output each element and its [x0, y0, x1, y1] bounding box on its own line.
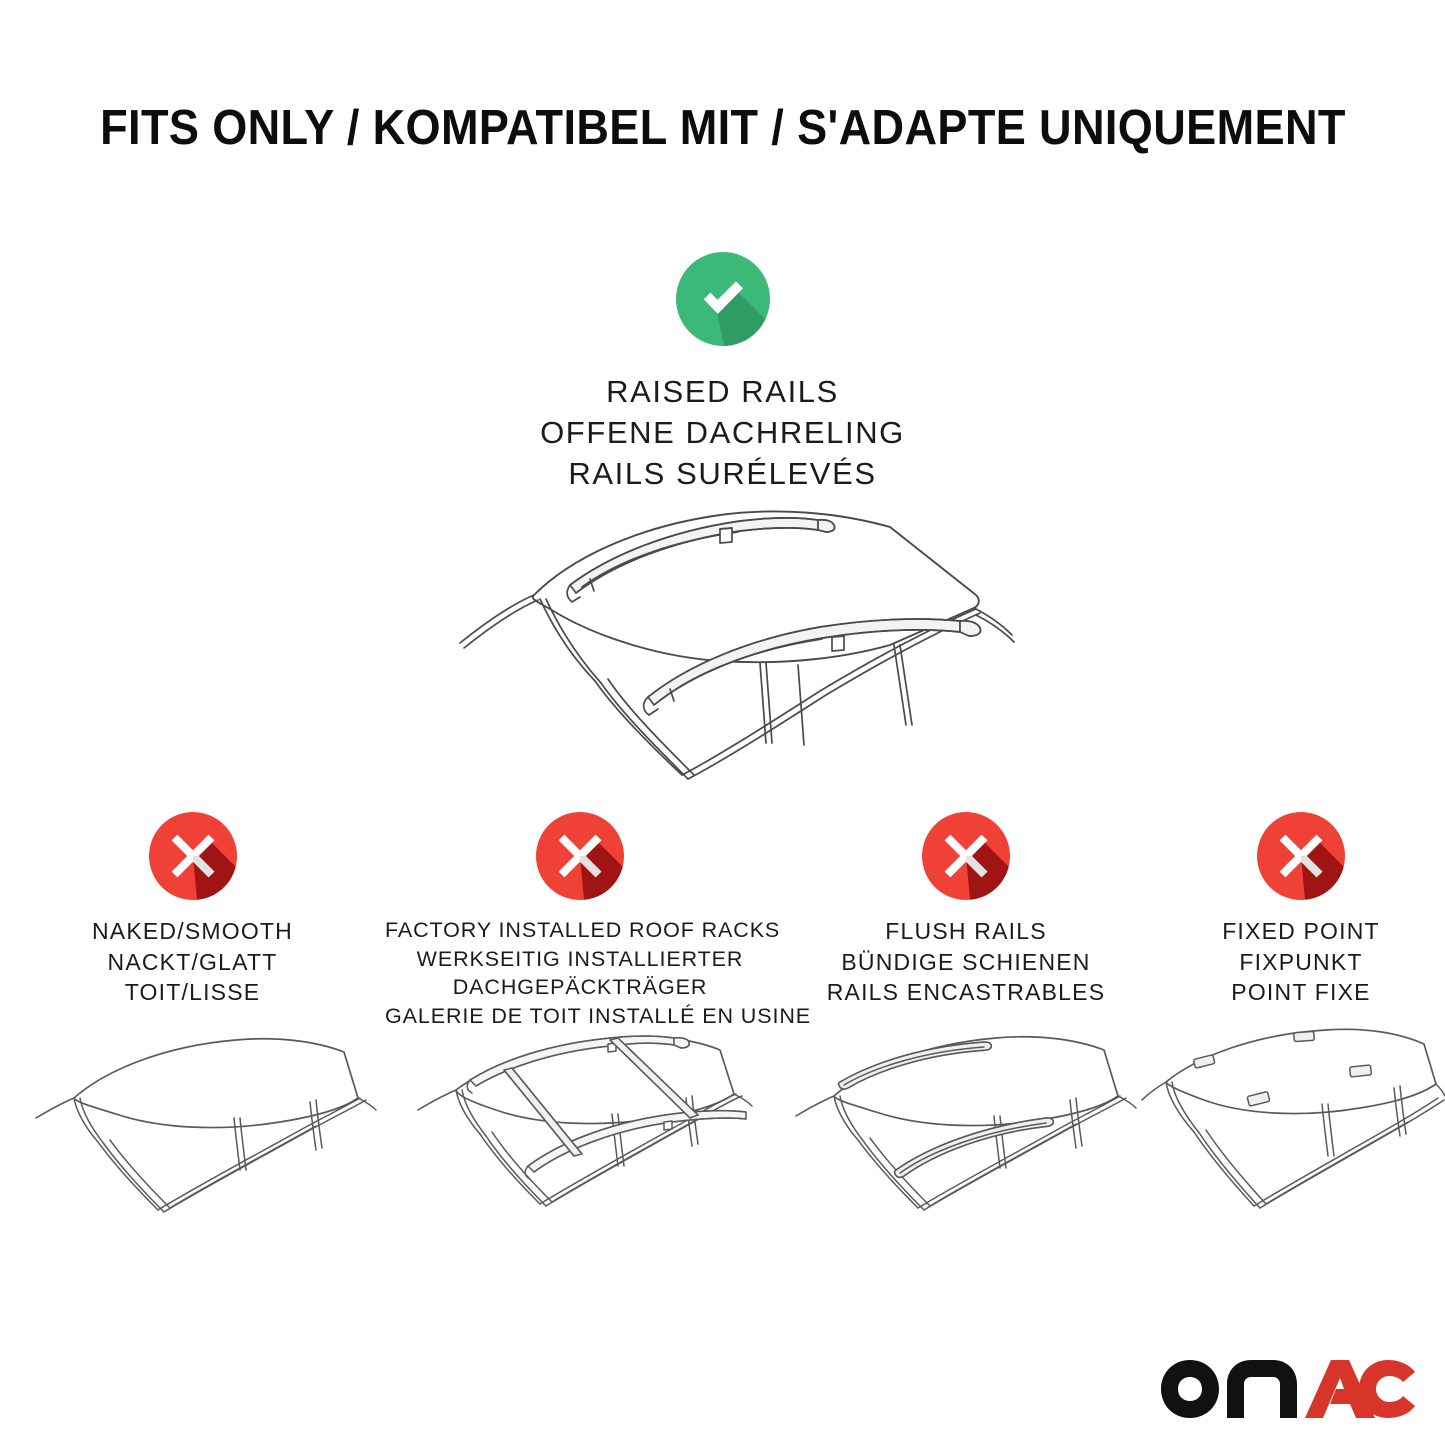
logo-letter-c — [1359, 1360, 1415, 1418]
incompatible-column-naked-smooth: NAKED/SMOOTH NACKT/GLATT TOIT/LISSE — [0, 812, 385, 1008]
incompatible-label-fr: TOIT/LISSE — [0, 977, 385, 1008]
incompatible-label-de-1: WERKSEITIG INSTALLIERTER — [385, 945, 775, 974]
cross-circle-icon — [922, 812, 1010, 900]
omac-logo — [1159, 1358, 1417, 1420]
incompatible-label-de: NACKT/GLATT — [0, 947, 385, 978]
page-title-container: FITS ONLY / KOMPATIBEL MIT / S'ADAPTE UN… — [0, 104, 1445, 153]
cross-circle-icon — [536, 812, 624, 900]
page-title: FITS ONLY / KOMPATIBEL MIT / S'ADAPTE UN… — [100, 104, 1346, 153]
car-roof-naked-smooth-illustration — [18, 1018, 378, 1268]
car-roof-raised-rails-illustration — [420, 487, 1030, 787]
car-roof-fixed-point-illustration — [1140, 1018, 1445, 1268]
logo-letter-m — [1227, 1360, 1297, 1418]
incompatible-label-fr: POINT FIXE — [1157, 977, 1445, 1008]
incompatible-label-en: FACTORY INSTALLED ROOF RACKS — [385, 916, 775, 945]
check-circle-icon — [676, 252, 770, 346]
logo-letter-o — [1161, 1360, 1219, 1418]
car-roof-factory-racks-illustration — [398, 1018, 766, 1268]
incompatible-label-de: FIXPUNKT — [1157, 947, 1445, 978]
compatible-label-de: OFFENE DACHRELING — [0, 413, 1445, 454]
cross-circle-icon — [1257, 812, 1345, 900]
incompatible-label-de-2: DACHGEPÄCKTRÄGER — [385, 973, 775, 1002]
compatible-label-en: RAISED RAILS — [0, 372, 1445, 413]
incompatible-column-factory-racks: FACTORY INSTALLED ROOF RACKS WERKSEITIG … — [385, 812, 775, 1030]
incompatible-label-fr: RAILS ENCASTRABLES — [775, 977, 1157, 1008]
incompatible-column-flush-rails: FLUSH RAILS BÜNDIGE SCHIENEN RAILS ENCAS… — [775, 812, 1157, 1008]
cross-circle-icon — [149, 812, 237, 900]
incompatible-label-de: BÜNDIGE SCHIENEN — [775, 947, 1157, 978]
incompatible-labels: FLUSH RAILS BÜNDIGE SCHIENEN RAILS ENCAS… — [775, 916, 1157, 1008]
incompatible-column-fixed-point: FIXED POINT FIXPUNKT POINT FIXE — [1157, 812, 1445, 1008]
compatible-labels: RAISED RAILS OFFENE DACHRELING RAILS SUR… — [0, 372, 1445, 495]
incompatible-label-en: FLUSH RAILS — [775, 916, 1157, 947]
incompatible-labels: NAKED/SMOOTH NACKT/GLATT TOIT/LISSE — [0, 916, 385, 1008]
compatible-section: RAISED RAILS OFFENE DACHRELING RAILS SUR… — [0, 252, 1445, 495]
incompatible-label-en: FIXED POINT — [1157, 916, 1445, 947]
incompatible-label-en: NAKED/SMOOTH — [0, 916, 385, 947]
incompatible-sections: NAKED/SMOOTH NACKT/GLATT TOIT/LISSE FACT… — [0, 812, 1445, 1030]
incompatible-labels: FACTORY INSTALLED ROOF RACKS WERKSEITIG … — [385, 916, 775, 1030]
car-roof-flush-rails-illustration — [778, 1018, 1140, 1268]
incompatible-labels: FIXED POINT FIXPUNKT POINT FIXE — [1157, 916, 1445, 1008]
